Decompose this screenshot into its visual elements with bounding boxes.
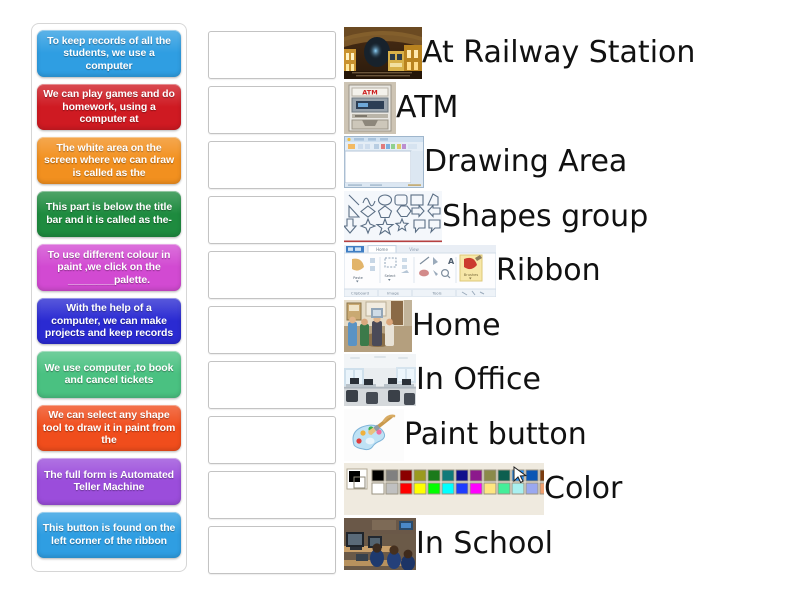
drop-slot[interactable] xyxy=(208,251,336,299)
drop-slot[interactable] xyxy=(208,306,336,354)
drop-slot[interactable] xyxy=(208,141,336,189)
answer-tile-label: We use computer ,to book and cancel tick… xyxy=(41,362,177,387)
prompt-label: ATM xyxy=(396,92,458,124)
prompt-row: Paint button xyxy=(344,408,796,463)
svg-text:A: A xyxy=(448,257,455,266)
prompt-row: Home xyxy=(344,299,796,354)
answer-tiles-panel: To keep records of all the students, we … xyxy=(31,23,187,572)
office-desks-photo-icon xyxy=(344,354,416,406)
drop-slot[interactable] xyxy=(208,361,336,409)
railway-station-photo-icon xyxy=(344,27,422,79)
answer-tile[interactable]: We can play games and do homework, using… xyxy=(37,84,181,131)
svg-text:Home: Home xyxy=(376,247,388,252)
drop-slot[interactable] xyxy=(208,31,336,79)
svg-text:Brushes: Brushes xyxy=(464,273,479,277)
answer-tile-label: To use different colour in paint ,we cli… xyxy=(41,249,177,287)
prompt-row: Color xyxy=(344,462,796,517)
drop-slot[interactable] xyxy=(208,196,336,244)
answer-tile[interactable]: With the help of a computer, we can make… xyxy=(37,298,181,345)
paint-shapes-gallery-screenshot-icon xyxy=(344,191,442,243)
answer-tile[interactable]: This button is found on the left corner … xyxy=(37,512,181,559)
paint-drawing-area-screenshot-icon xyxy=(344,136,424,188)
answer-tile-label: The white area on the screen where we ca… xyxy=(41,142,177,180)
svg-text:View: View xyxy=(409,247,419,252)
prompts-column: At Railway Station ATM ATM xyxy=(344,26,796,571)
svg-text:ATM: ATM xyxy=(362,88,377,96)
prompt-row: At Railway Station xyxy=(344,26,796,81)
answer-tile-label: This button is found on the left corner … xyxy=(41,522,177,547)
drop-slot[interactable] xyxy=(208,471,336,519)
prompt-label: Ribbon xyxy=(496,255,601,287)
prompt-label: In School xyxy=(416,528,553,560)
answer-tile-label: This part is below the title bar and it … xyxy=(41,201,177,226)
answer-tile[interactable]: We can select any shape tool to draw it … xyxy=(37,405,181,452)
prompt-label: Shapes group xyxy=(442,201,648,233)
answer-tile[interactable]: To use different colour in paint ,we cli… xyxy=(37,244,181,291)
atm-machine-photo-icon: ATM xyxy=(344,82,396,134)
home-room-photo-icon xyxy=(344,300,412,352)
answer-tile[interactable]: The white area on the screen where we ca… xyxy=(37,137,181,184)
drop-slot[interactable] xyxy=(208,86,336,134)
answer-tile[interactable]: To keep records of all the students, we … xyxy=(37,30,181,77)
answer-tile[interactable]: This part is below the title bar and it … xyxy=(37,191,181,238)
svg-text:Tools: Tools xyxy=(431,291,441,296)
answer-tile-label: The full form is Automated Teller Machin… xyxy=(41,469,177,494)
svg-text:Clipboard: Clipboard xyxy=(351,291,370,296)
prompt-label: At Railway Station xyxy=(422,37,695,69)
svg-text:Image: Image xyxy=(387,291,400,296)
answer-tile[interactable]: The full form is Automated Teller Machin… xyxy=(37,458,181,505)
answer-tile-label: We can select any shape tool to draw it … xyxy=(41,409,177,447)
answer-tile-label: With the help of a computer, we can make… xyxy=(41,302,177,340)
school-computer-lab-photo-icon xyxy=(344,518,416,570)
match-up-activity: To keep records of all the students, we … xyxy=(0,0,800,600)
prompt-label: In Office xyxy=(416,364,541,396)
prompt-label: Paint button xyxy=(404,419,587,451)
drop-slot[interactable] xyxy=(208,416,336,464)
prompt-row: Drawing Area xyxy=(344,135,796,190)
prompt-label: Home xyxy=(412,310,501,342)
answer-tile-label: To keep records of all the students, we … xyxy=(41,35,177,73)
prompt-label: Color xyxy=(544,473,622,505)
svg-text:Paste: Paste xyxy=(353,276,363,280)
answer-tile-label: We can play games and do homework, using… xyxy=(41,88,177,126)
prompt-row: In Office xyxy=(344,353,796,408)
paint-palette-icon xyxy=(344,409,404,461)
prompt-label: Drawing Area xyxy=(424,146,627,178)
prompt-row: Home View Paste Select xyxy=(344,244,796,299)
drop-slots-column xyxy=(208,31,336,581)
answer-tile[interactable]: We use computer ,to book and cancel tick… xyxy=(37,351,181,398)
svg-text:Select: Select xyxy=(384,274,396,278)
drop-slot[interactable] xyxy=(208,526,336,574)
paint-ribbon-screenshot-icon: Home View Paste Select xyxy=(344,245,496,297)
prompt-row: Shapes group xyxy=(344,190,796,245)
prompt-row: ATM ATM xyxy=(344,81,796,136)
prompt-row: In School xyxy=(344,517,796,572)
paint-color-palette-screenshot-icon xyxy=(344,463,544,515)
